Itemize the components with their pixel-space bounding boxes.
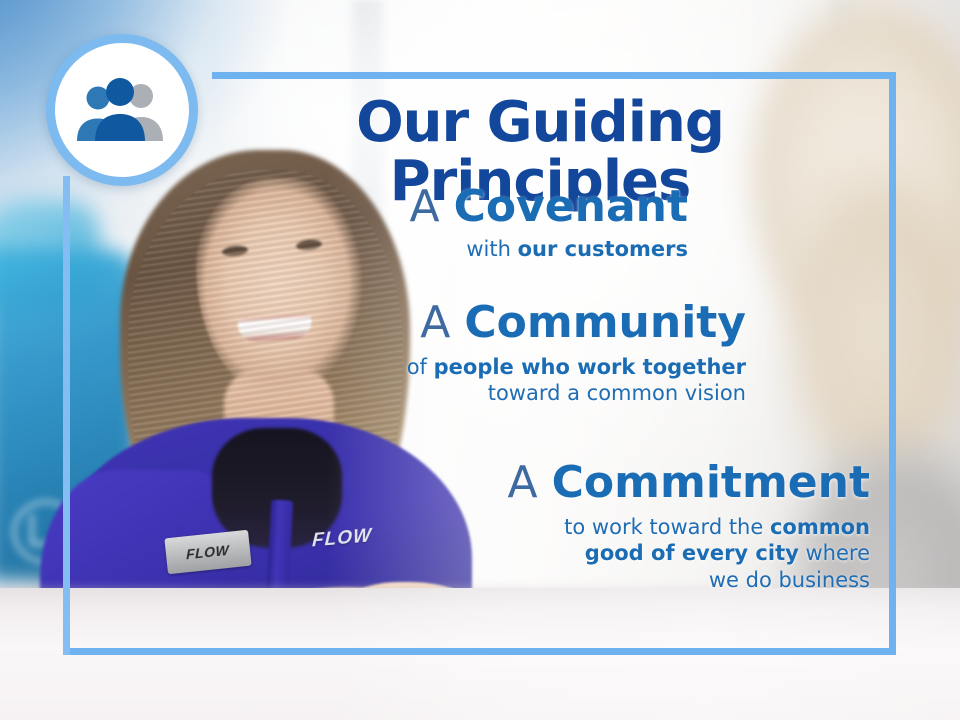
principle-commitment-sub-line-1: to work toward the common (400, 514, 870, 540)
principle-commitment-article: A (508, 457, 538, 508)
principle-commitment: A Commitment to work toward the common g… (400, 460, 870, 593)
principle-community-article: A (420, 297, 450, 348)
principle-community: A Community of people who work together … (310, 300, 746, 407)
principle-community-subtitle: of people who work together toward a com… (310, 354, 746, 407)
principle-commitment-sub-plain-b: where (799, 541, 870, 565)
principle-commitment-sub-line-3: we do business (400, 567, 870, 593)
principle-covenant-sub-bold: our customers (518, 237, 688, 261)
principle-commitment-sub-bold-b: good of every city (585, 541, 799, 565)
principle-commitment-sub-line-2: good of every city where (400, 540, 870, 566)
principle-community-sub-plain: of (407, 355, 434, 379)
principle-community-sub-line-2: toward a common vision (310, 380, 746, 406)
principle-covenant-subtitle: with our customers (260, 236, 688, 262)
principle-community-sub-bold: people who work together (434, 355, 746, 379)
principle-community-sub-line-1: of people who work together (310, 354, 746, 380)
principle-covenant-word: Covenant (454, 181, 688, 232)
principle-covenant: A Covenant with our customers (260, 184, 688, 262)
principle-commitment-sub-plain-a: to work toward the (564, 515, 770, 539)
principle-covenant-sub-plain: with (466, 237, 517, 261)
principle-commitment-title: A Commitment (400, 460, 870, 506)
principle-commitment-word: Commitment (552, 457, 870, 508)
principle-covenant-article: A (409, 181, 439, 232)
principle-community-word: Community (464, 297, 746, 348)
people-group-icon (74, 77, 170, 143)
principle-commitment-sub-bold-a: common (770, 515, 870, 539)
principle-community-title: A Community (310, 300, 746, 346)
poster-canvas: FLOW FLOW (0, 0, 960, 720)
principle-commitment-subtitle: to work toward the common good of every … (400, 514, 870, 593)
principle-covenant-title: A Covenant (260, 184, 688, 230)
people-group-badge (46, 34, 198, 186)
